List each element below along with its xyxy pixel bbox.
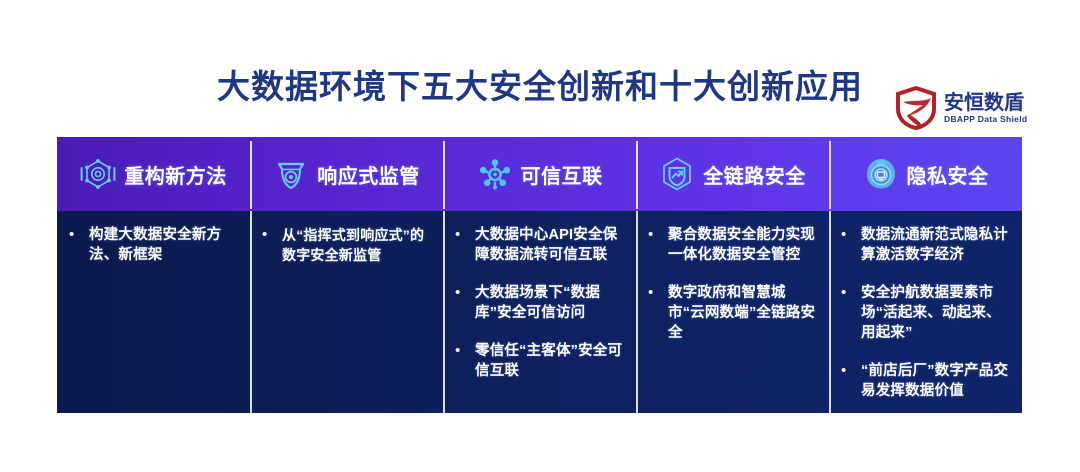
matrix-header-row: 重构新方法 响应式监管 xyxy=(57,137,1022,211)
shield-target-icon xyxy=(273,156,309,192)
brand-logo: 安恒数盾 DBAPP Data Shield xyxy=(893,84,1043,132)
list-item: • 构建大数据安全新方法、新框架 xyxy=(63,225,240,265)
bullet-text: 构建大数据安全新方法、新框架 xyxy=(89,225,240,265)
matrix-header-cell-5[interactable]: 隐私安全 xyxy=(829,137,1022,211)
bullet-text: “前店后厂”数字产品交易发挥数据价值 xyxy=(861,361,1012,401)
list-item: • 大数据场景下“数据库”安全可信访问 xyxy=(449,283,626,323)
bullet-list-1: • 构建大数据安全新方法、新框架 xyxy=(63,225,240,265)
shield-swoosh-logo-icon xyxy=(893,86,939,130)
bullet-glyph: • xyxy=(642,225,668,245)
matrix-header-label-5: 隐私安全 xyxy=(907,160,989,189)
privacy-lock-icon xyxy=(863,156,899,192)
list-item: • 零信任“主客体”安全可信互联 xyxy=(449,341,626,381)
bullet-text: 从“指挥式到响应式”的数字安全新监管 xyxy=(282,225,433,265)
matrix-header-cell-1[interactable]: 重构新方法 xyxy=(57,137,250,211)
bullet-text: 大数据场景下“数据库”安全可信访问 xyxy=(475,283,626,323)
matrix-header-cell-3[interactable]: 可信互联 xyxy=(443,137,636,211)
list-item: • 从“指挥式到响应式”的数字安全新监管 xyxy=(256,225,433,265)
bullet-glyph: • xyxy=(256,225,282,245)
bullet-list-2: • 从“指挥式到响应式”的数字安全新监管 xyxy=(256,225,433,265)
node-hub-icon xyxy=(477,156,513,192)
matrix-header-label-1: 重构新方法 xyxy=(124,160,227,189)
list-item: • 聚合数据安全能力实现一体化数据安全管控 xyxy=(642,225,819,265)
matrix-body-cell-4: • 聚合数据安全能力实现一体化数据安全管控 • 数字政府和智慧城市“云网数端”全… xyxy=(636,211,829,413)
logo-text: 安恒数盾 DBAPP Data Shield xyxy=(944,93,1027,124)
matrix-body-cell-3: • 大数据中心API安全保障数据流转可信互联 • 大数据场景下“数据库”安全可信… xyxy=(443,211,636,413)
bullet-text: 零信任“主客体”安全可信互联 xyxy=(475,341,626,381)
matrix-body-cell-2: • 从“指挥式到响应式”的数字安全新监管 xyxy=(250,211,443,413)
list-item: • 数字政府和智慧城市“云网数端”全链路安全 xyxy=(642,283,819,343)
matrix-header-cell-2[interactable]: 响应式监管 xyxy=(250,137,443,211)
matrix-body-row: • 构建大数据安全新方法、新框架 • 从“指挥式到响应式”的数字安全新监管 • … xyxy=(57,211,1022,413)
bullet-glyph: • xyxy=(449,283,475,303)
bullet-glyph: • xyxy=(642,283,668,303)
bullet-text: 数字政府和智慧城市“云网数端”全链路安全 xyxy=(668,283,819,343)
bullet-text: 安全护航数据要素市场“活起来、动起来、用起来” xyxy=(861,283,1012,343)
list-item: • 数据流通新范式隐私计算激活数字经济 xyxy=(835,225,1012,265)
matrix-header-cell-4[interactable]: 全链路安全 xyxy=(636,137,829,211)
list-item: • 安全护航数据要素市场“活起来、动起来、用起来” xyxy=(835,283,1012,343)
hexagon-network-icon xyxy=(80,156,116,192)
bullet-text: 大数据中心API安全保障数据流转可信互联 xyxy=(475,225,626,265)
logo-name-cn: 安恒数盾 xyxy=(944,93,1027,113)
bullet-list-3: • 大数据中心API安全保障数据流转可信互联 • 大数据场景下“数据库”安全可信… xyxy=(449,225,626,381)
bullet-list-5: • 数据流通新范式隐私计算激活数字经济 • 安全护航数据要素市场“活起来、动起来… xyxy=(835,225,1012,401)
bullet-text: 数据流通新范式隐私计算激活数字经济 xyxy=(861,225,1012,265)
bullet-glyph: • xyxy=(835,225,861,245)
list-item: • 大数据中心API安全保障数据流转可信互联 xyxy=(449,225,626,265)
bullet-glyph: • xyxy=(835,361,861,381)
five-innovations-matrix: 重构新方法 响应式监管 xyxy=(57,137,1022,413)
matrix-body-cell-5: • 数据流通新范式隐私计算激活数字经济 • 安全护航数据要素市场“活起来、动起来… xyxy=(829,211,1022,413)
bullet-glyph: • xyxy=(449,225,475,245)
bullet-glyph: • xyxy=(835,283,861,303)
bullet-glyph: • xyxy=(63,225,89,245)
hexagon-shield-chart-icon xyxy=(659,156,695,192)
matrix-header-label-2: 响应式监管 xyxy=(317,160,420,189)
matrix-header-label-4: 全链路安全 xyxy=(703,160,806,189)
logo-name-en: DBAPP Data Shield xyxy=(944,115,1027,124)
matrix-header-label-3: 可信互联 xyxy=(521,160,603,189)
bullet-text: 聚合数据安全能力实现一体化数据安全管控 xyxy=(668,225,819,265)
bullet-list-4: • 聚合数据安全能力实现一体化数据安全管控 • 数字政府和智慧城市“云网数端”全… xyxy=(642,225,819,343)
list-item: • “前店后厂”数字产品交易发挥数据价值 xyxy=(835,361,1012,401)
matrix-body-cell-1: • 构建大数据安全新方法、新框架 xyxy=(57,211,250,413)
bullet-glyph: • xyxy=(449,341,475,361)
